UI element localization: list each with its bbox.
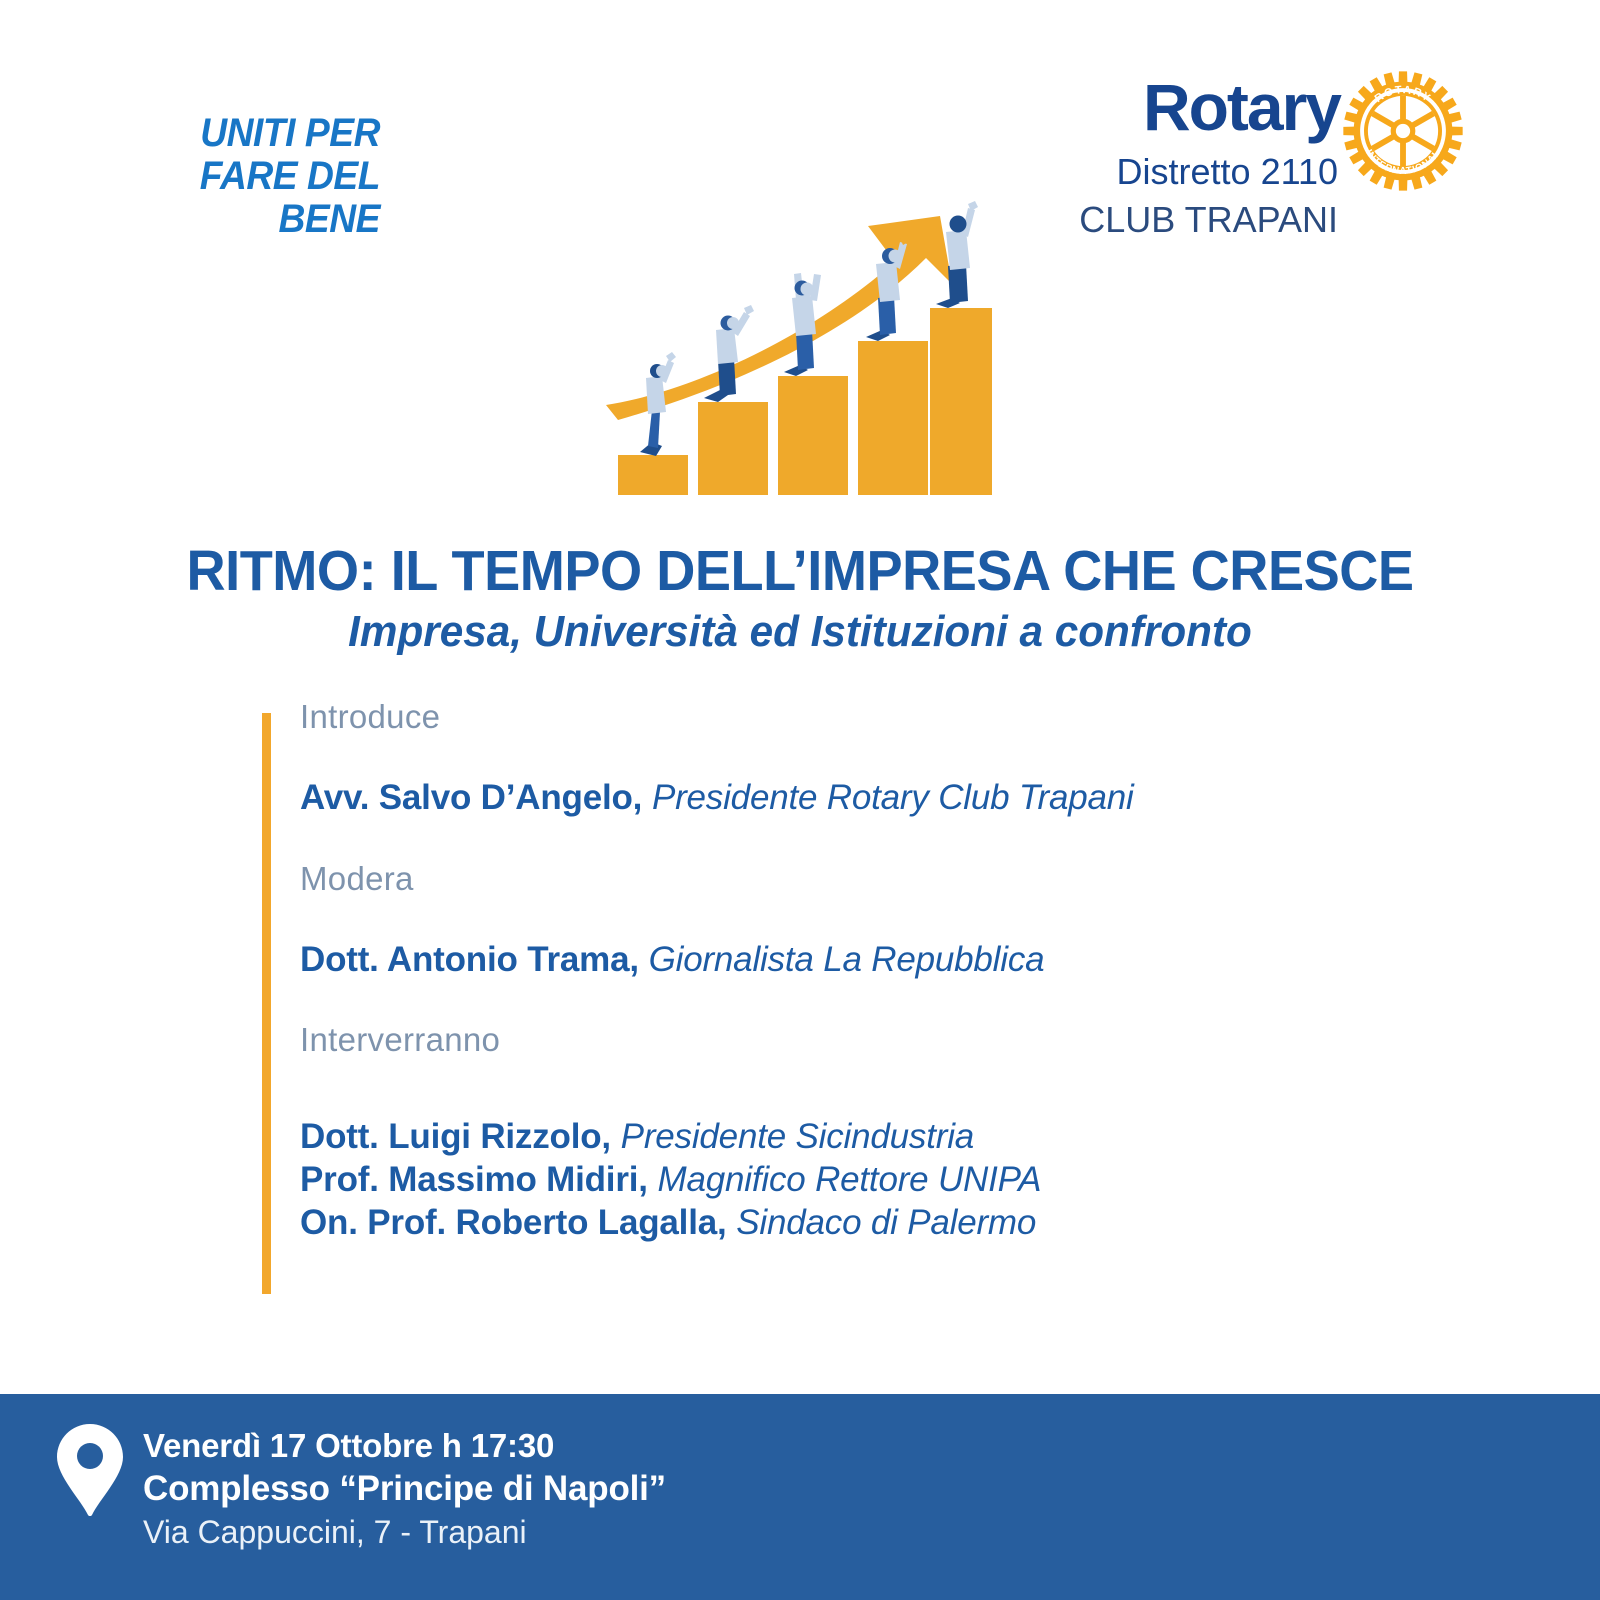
speaker-name: Avv. Salvo D’Angelo, — [300, 778, 642, 817]
bar-3 — [778, 376, 848, 495]
speaker-role: Magnifico Rettore UNIPA — [658, 1160, 1042, 1199]
event-address: Via Cappuccini, 7 - Trapani — [143, 1512, 666, 1554]
speaker-role: Giornalista La Repubblica — [649, 940, 1045, 979]
bar-4 — [858, 341, 928, 495]
bar-5 — [930, 308, 992, 495]
page-subtitle: Impresa, Università ed Istituzioni a con… — [32, 607, 1568, 657]
slogan-line-2: FARE DEL — [101, 155, 380, 198]
speaker-row: On. Prof. Roberto Lagalla, Sindaco di Pa… — [300, 1202, 1480, 1245]
rotary-district-label: Distretto 2110 — [1117, 154, 1338, 190]
section-label-introduce: Introduce — [300, 700, 1480, 733]
speaker-row: Dott. Antonio Trama, Giornalista La Repu… — [300, 939, 1480, 982]
speaker-row: Dott. Luigi Rizzolo, Presidente Sicindus… — [300, 1116, 1480, 1159]
speaker-name: Dott. Luigi Rizzolo, — [300, 1117, 611, 1156]
section-label-modera: Modera — [300, 862, 1480, 895]
speaker-row: Prof. Massimo Midiri, Magnifico Rettore … — [300, 1159, 1480, 1202]
rotary-gear-wheel-icon: ROTARY INTERNATIONAL — [1338, 66, 1468, 196]
section-label-interverranno: Interverranno — [300, 1023, 1480, 1056]
bar-2 — [698, 402, 768, 495]
bar-1 — [618, 455, 688, 495]
footer-text-block: Venerdì 17 Ottobre h 17:30 Complesso “Pr… — [143, 1425, 666, 1554]
event-poster: UNITI PER FARE DEL BENE Rotary Distretto… — [0, 0, 1600, 1600]
gold-accent-bar — [262, 713, 271, 1294]
speaker-role: Presidente Rotary Club Trapani — [652, 778, 1134, 817]
rotary-wordmark: Rotary — [1143, 74, 1340, 140]
slogan-line-1: UNITI PER — [101, 112, 380, 155]
event-venue: Complesso “Principe di Napoli” — [143, 1467, 666, 1512]
rotary-club-label: CLUB TRAPANI — [1079, 202, 1338, 238]
speaker-role: Sindaco di Palermo — [736, 1203, 1036, 1242]
event-datetime: Venerdì 17 Ottobre h 17:30 — [143, 1425, 666, 1467]
growth-chart-illustration — [600, 180, 1000, 510]
speaker-name: Dott. Antonio Trama, — [300, 940, 639, 979]
page-title: RITMO: IL TEMPO DELL’IMPRESA CHE CRESCE — [40, 538, 1560, 604]
speaker-row: Avv. Salvo D’Angelo, Presidente Rotary C… — [300, 777, 1480, 820]
speaker-name: On. Prof. Roberto Lagalla, — [300, 1203, 727, 1242]
slogan-line-3: BENE — [101, 198, 380, 241]
map-pin-icon — [57, 1424, 123, 1516]
program-list: Introduce Avv. Salvo D’Angelo, President… — [300, 700, 1480, 1244]
speaker-role: Presidente Sicindustria — [621, 1117, 974, 1156]
rotary-logo: Rotary Distretto 2110 CLUB TRAPANI — [1100, 74, 1460, 254]
speaker-name: Prof. Massimo Midiri, — [300, 1160, 648, 1199]
campaign-slogan: UNITI PER FARE DEL BENE — [101, 112, 380, 240]
